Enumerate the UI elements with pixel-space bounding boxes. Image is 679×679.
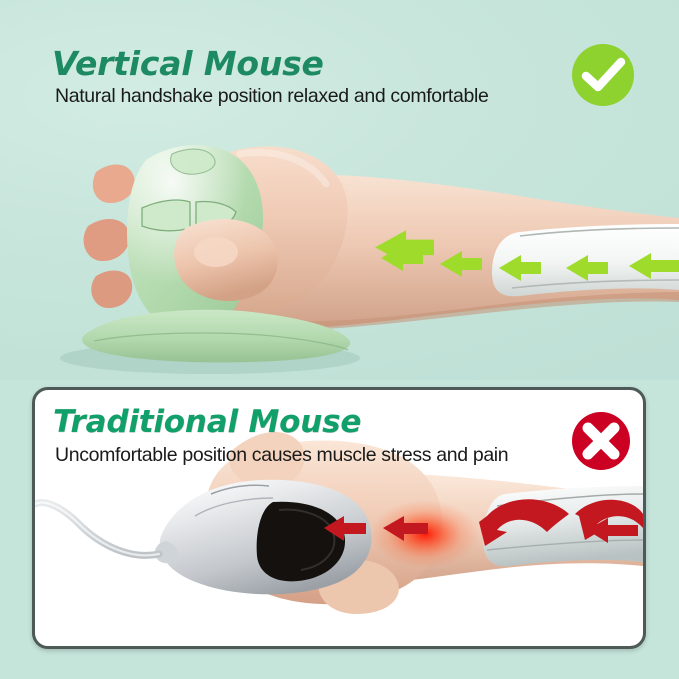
check-circle-icon	[570, 42, 636, 108]
arrow-left-icon-b1	[324, 516, 366, 541]
curved-arrow-icon-1	[479, 499, 569, 546]
arrow-left-icon-2	[440, 251, 482, 277]
vertical-mouse-panel: Vertical Mouse Natural handshake positio…	[0, 0, 679, 380]
traditional-mouse-panel: Traditional Mouse Uncomfortable position…	[32, 387, 646, 649]
infographic-root: Vertical Mouse Natural handshake positio…	[0, 0, 679, 679]
subtitle-vertical: Natural handshake position relaxed and c…	[55, 85, 488, 108]
page-title-traditional: Traditional Mouse	[53, 404, 361, 440]
x-circle-icon	[570, 410, 632, 472]
page-title-vertical: Vertical Mouse	[52, 44, 324, 83]
subtitle-traditional: Uncomfortable position causes muscle str…	[55, 444, 508, 467]
arrow-left-icon-4	[566, 255, 608, 281]
arrow-left-icon-5	[629, 253, 679, 279]
arrow-left-icon-3	[499, 255, 541, 281]
